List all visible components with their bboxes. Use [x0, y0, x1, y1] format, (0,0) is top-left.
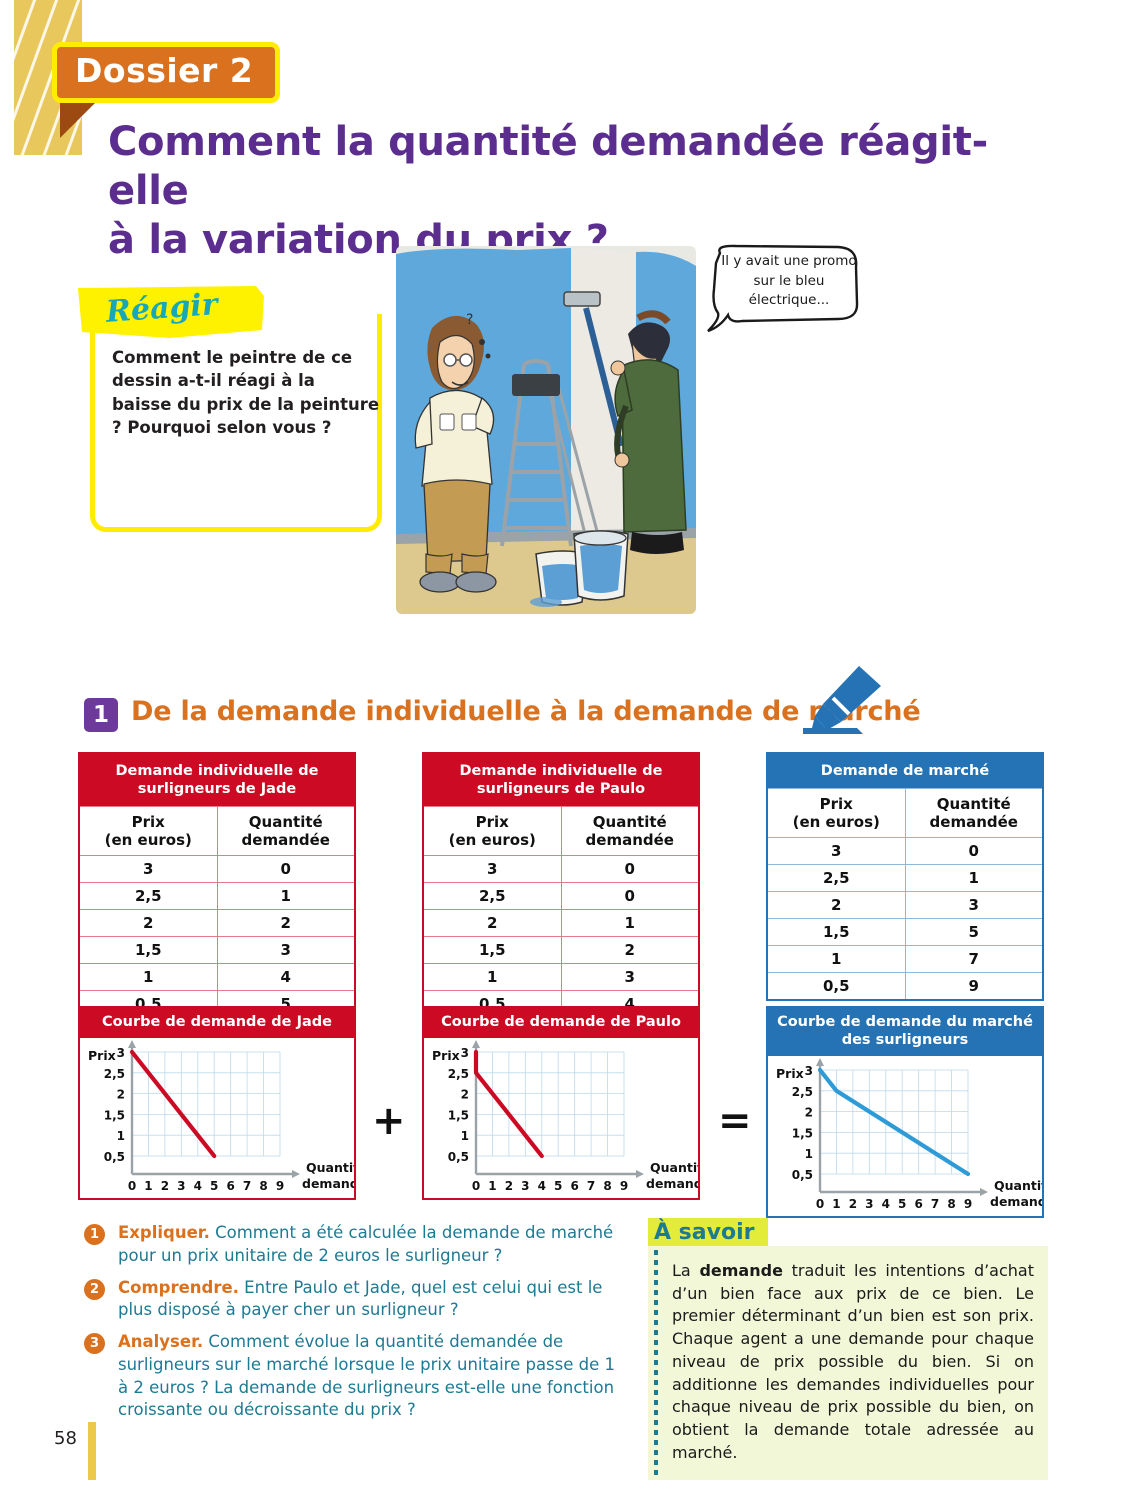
question-verb: Analyser.	[118, 1332, 203, 1351]
a-savoir-body: La demande traduit les intentions d’acha…	[648, 1246, 1048, 1480]
table-row: 2,51	[79, 883, 355, 910]
svg-text:9: 9	[620, 1179, 628, 1193]
svg-text:1: 1	[144, 1179, 152, 1193]
svg-text:4: 4	[882, 1197, 890, 1211]
svg-text:9: 9	[276, 1179, 284, 1193]
svg-text:8: 8	[947, 1197, 955, 1211]
svg-text:3: 3	[117, 1046, 125, 1060]
svg-text:5: 5	[210, 1179, 218, 1193]
svg-text:0,5: 0,5	[104, 1150, 125, 1164]
svg-text:0: 0	[472, 1179, 480, 1193]
question-bullet: 3	[84, 1333, 105, 1354]
question-verb: Expliquer.	[118, 1223, 210, 1242]
svg-text:1: 1	[117, 1129, 125, 1143]
svg-text:2,5: 2,5	[104, 1067, 125, 1081]
svg-text:3: 3	[461, 1046, 469, 1060]
table-marche: Demande de marché Prix (en euros) Quanti…	[766, 752, 1044, 1001]
table-row: 0,59	[767, 973, 1043, 1001]
table-row: 13	[423, 964, 699, 991]
svg-text:Prix: Prix	[432, 1048, 460, 1063]
folio-bar	[88, 1422, 96, 1480]
svg-text:0: 0	[816, 1197, 824, 1211]
question-text: Comprendre. Entre Paulo et Jade, quel es…	[118, 1277, 629, 1323]
svg-text:5: 5	[554, 1179, 562, 1193]
chart-title: Courbe de demande du marché des surligne…	[766, 1006, 1044, 1056]
svg-text:demandées: demandées	[302, 1176, 354, 1191]
textbook-page: Dossier 2 Comment la quantité demandée r…	[0, 0, 1125, 1500]
svg-text:5: 5	[898, 1197, 906, 1211]
col-header-prix: Prix (en euros)	[423, 807, 561, 856]
question-item-3: 3 Analyser. Comment évolue la quantité d…	[84, 1331, 629, 1422]
speech-bubble-text: Il y avait une promo sur le bleu électri…	[718, 252, 860, 311]
svg-text:9: 9	[964, 1197, 972, 1211]
table-row: 17	[767, 946, 1043, 973]
a-savoir-text: La demande traduit les intentions d’acha…	[672, 1260, 1034, 1464]
svg-text:0,5: 0,5	[448, 1150, 469, 1164]
table-row: 1,55	[767, 919, 1043, 946]
svg-text:1,5: 1,5	[448, 1109, 469, 1123]
question-bullet: 2	[84, 1279, 105, 1300]
svg-text:1,5: 1,5	[104, 1109, 125, 1123]
reagir-question: Comment le peintre de ce dessin a-t-il r…	[112, 346, 380, 440]
page-title-line-1: Comment la quantité demandée réagit-elle	[108, 118, 1028, 216]
table-row: 30	[423, 856, 699, 883]
a-savoir-block: À savoir La demande traduit les intentio…	[648, 1218, 1048, 1480]
svg-text:demandées: demandées	[990, 1194, 1042, 1209]
a-savoir-tag: À savoir	[648, 1218, 768, 1248]
question-text: Expliquer. Comment a été calculée la dem…	[118, 1222, 629, 1268]
svg-text:Prix: Prix	[776, 1066, 804, 1081]
svg-text:?: ?	[466, 312, 473, 328]
svg-text:2: 2	[461, 1088, 469, 1102]
page-title: Comment la quantité demandée réagit-elle…	[108, 118, 1028, 264]
svg-text:Quantités: Quantités	[994, 1178, 1042, 1193]
svg-text:7: 7	[243, 1179, 251, 1193]
svg-text:1: 1	[832, 1197, 840, 1211]
svg-text:demandées: demandées	[646, 1176, 698, 1191]
highlighter-icon	[797, 664, 883, 740]
svg-text:2: 2	[161, 1179, 169, 1193]
table-row: 30	[767, 838, 1043, 865]
page-number: 58	[54, 1428, 77, 1449]
svg-text:1,5: 1,5	[792, 1127, 813, 1141]
svg-text:4: 4	[538, 1179, 546, 1193]
svg-text:2: 2	[849, 1197, 857, 1211]
svg-text:6: 6	[914, 1197, 922, 1211]
a-savoir-rest: traduit les intentions d’achat d’un bien…	[672, 1261, 1034, 1462]
table-caption: Demande individuelle de surligneurs de P…	[423, 753, 699, 807]
svg-text:1: 1	[805, 1147, 813, 1161]
svg-text:2,5: 2,5	[792, 1085, 813, 1099]
table-paulo: Demande individuelle de surligneurs de P…	[422, 752, 700, 1019]
table-jade: Demande individuelle de surligneurs de J…	[78, 752, 356, 1019]
svg-text:2: 2	[805, 1106, 813, 1120]
svg-text:0: 0	[128, 1179, 136, 1193]
svg-text:1: 1	[461, 1129, 469, 1143]
svg-text:Quantités: Quantités	[650, 1160, 698, 1175]
svg-text:2: 2	[117, 1088, 125, 1102]
table-row: 23	[767, 892, 1043, 919]
chart-title: Courbe de demande de Paulo	[422, 1006, 700, 1038]
chart-card-jade: Courbe de demande de Jade 0,511,522,5301…	[78, 1006, 356, 1200]
table-row: 14	[79, 964, 355, 991]
table-row: 1,53	[79, 937, 355, 964]
svg-text:2,5: 2,5	[448, 1067, 469, 1081]
question-item-2: 2 Comprendre. Entre Paulo et Jade, quel …	[84, 1277, 629, 1323]
table-row: 30	[79, 856, 355, 883]
table-row: 2,51	[767, 865, 1043, 892]
dotted-divider	[654, 1250, 658, 1476]
col-header-quantite: Quantité demandée	[561, 807, 699, 856]
table-caption: Demande de marché	[767, 753, 1043, 789]
question-verb: Comprendre.	[118, 1278, 239, 1297]
svg-text:3: 3	[177, 1179, 185, 1193]
table-row: 2,50	[423, 883, 699, 910]
chart-plot-marche: 0,511,522,530123456789PrixQuantitésdeman…	[766, 1056, 1044, 1218]
a-savoir-label: À savoir	[654, 1220, 754, 1245]
question-bullet: 1	[84, 1224, 105, 1245]
svg-text:6: 6	[570, 1179, 578, 1193]
svg-text:6: 6	[226, 1179, 234, 1193]
table-caption: Demande individuelle de surligneurs de J…	[79, 753, 355, 807]
col-header-quantite: Quantité demandée	[905, 789, 1043, 838]
col-header-prix: Prix (en euros)	[79, 807, 217, 856]
col-header-quantite: Quantité demandée	[217, 807, 355, 856]
question-text: Analyser. Comment évolue la quantité dem…	[118, 1331, 629, 1422]
dossier-badge: Dossier 2	[52, 42, 280, 103]
table-row: 21	[423, 910, 699, 937]
a-savoir-term: demande	[699, 1261, 782, 1280]
operator-equals: =	[718, 1098, 752, 1144]
svg-text:3: 3	[521, 1179, 529, 1193]
svg-text:Quantités: Quantités	[306, 1160, 354, 1175]
svg-text:0,5: 0,5	[792, 1168, 813, 1182]
svg-text:7: 7	[931, 1197, 939, 1211]
table-row: 22	[79, 910, 355, 937]
reagir-block: Réagir Comment le peintre de ce dessin a…	[78, 286, 386, 538]
operator-plus: +	[372, 1098, 406, 1144]
svg-text:8: 8	[259, 1179, 267, 1193]
chart-card-paulo: Courbe de demande de Paulo 0,511,522,530…	[422, 1006, 700, 1200]
svg-text:7: 7	[587, 1179, 595, 1193]
chart-title: Courbe de demande de Jade	[78, 1006, 356, 1038]
svg-text:3: 3	[865, 1197, 873, 1211]
col-header-prix: Prix (en euros)	[767, 789, 905, 838]
chart-card-marche: Courbe de demande du marché des surligne…	[766, 1006, 1044, 1218]
a-savoir-lead: La	[672, 1261, 699, 1280]
svg-text:3: 3	[805, 1064, 813, 1078]
svg-text:2: 2	[505, 1179, 513, 1193]
painting-illustration: ?	[396, 246, 696, 614]
table-row: 1,52	[423, 937, 699, 964]
svg-text:4: 4	[194, 1179, 202, 1193]
chart-plot-paulo: 0,511,522,530123456789PrixQuantitésdeman…	[422, 1038, 700, 1200]
question-item-1: 1 Expliquer. Comment a été calculée la d…	[84, 1222, 629, 1268]
svg-text:8: 8	[603, 1179, 611, 1193]
svg-text:Prix: Prix	[88, 1048, 116, 1063]
svg-text:1: 1	[488, 1179, 496, 1193]
section-number: 1	[84, 698, 118, 732]
chart-plot-jade: 0,511,522,530123456789PrixQuantitésdeman…	[78, 1038, 356, 1200]
questions-list: 1 Expliquer. Comment a été calculée la d…	[84, 1222, 629, 1431]
